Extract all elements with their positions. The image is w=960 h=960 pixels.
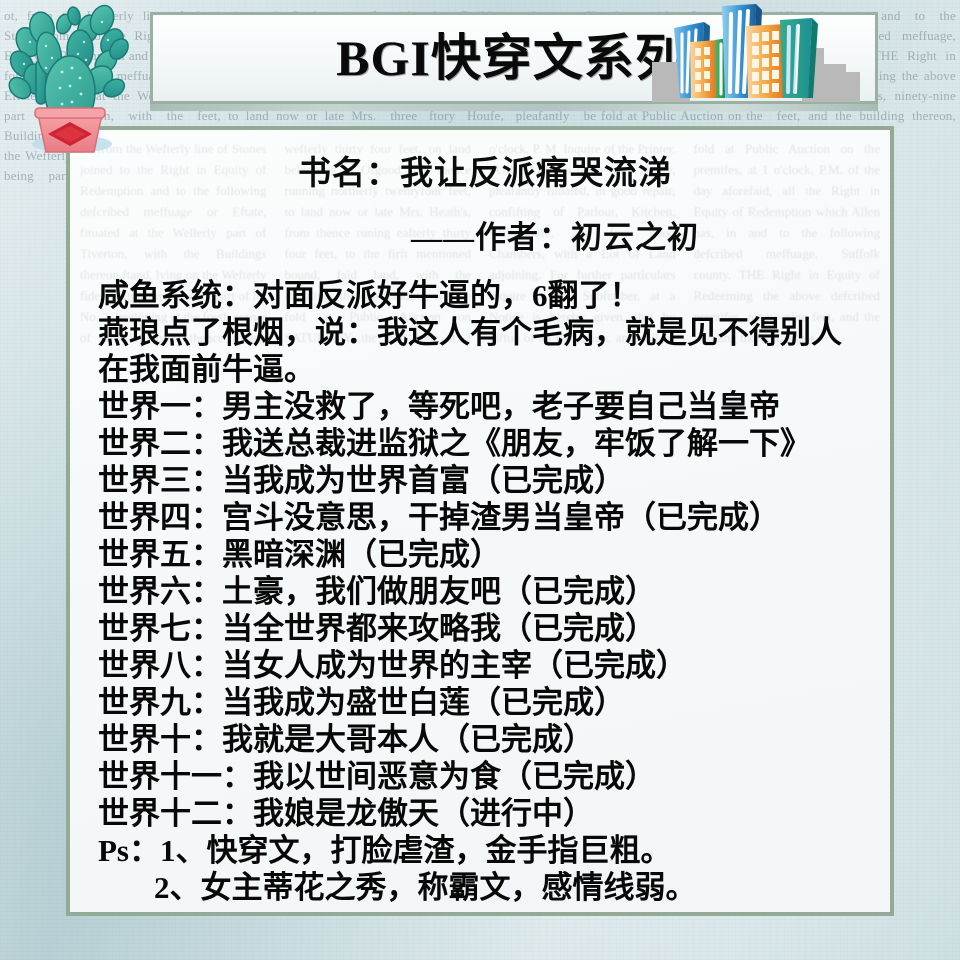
world-list-item: 世界九：当我成为盛世白莲（已完成） [98, 684, 876, 721]
world-list-item: 世界十二：我娘是龙傲天（进行中） [98, 795, 876, 832]
world-list-item: 世界十一：我以世间恶意为食（已完成） [98, 758, 876, 795]
book-title: 书名：我让反派痛哭流涕 [298, 146, 672, 194]
intro-line: 咸鱼系统：对面反派好牛逼的，6翻了！ [98, 277, 876, 314]
world-list-item: 世界一：男主没救了，等死吧，老子要自己当皇帝 [98, 388, 876, 425]
world-list-item: 世界八：当女人成为世界的主宰（已完成） [98, 647, 876, 684]
page-title: BGI快穿文系列 [336, 33, 686, 83]
world-list-item: 世界二：我送总裁进监狱之《朋友，牢饭了解一下》 [98, 425, 876, 462]
cityscape-buildings-icon [652, 0, 900, 118]
intro-line: 在我面前牛逼。 [98, 351, 876, 388]
ps-line: Ps：1、快穿文，打脸虐渣，金手指巨粗。 [98, 832, 876, 869]
cactus-plant-icon [2, 2, 162, 172]
content-inner: 书名：我让反派痛哭流涕 ——作者：初云之初 咸鱼系统：对面反派好牛逼的，6翻了！… [70, 146, 890, 906]
ps-line: 2、女主蒂花之秀，称霸文，感情线弱。 [98, 869, 876, 906]
world-list-item: 世界十：我就是大哥本人（已完成） [98, 721, 876, 758]
author-name: ——作者：初云之初 [411, 212, 699, 257]
content-panel: ot, from the Wefterly line of Stones joi… [66, 126, 894, 916]
author-row: ——作者：初云之初 [70, 212, 890, 257]
world-list-item: 世界七：当全世界都来攻略我（已完成） [98, 610, 876, 647]
poster-page: ot, from the Wefterly line of Stones joi… [0, 0, 960, 960]
world-list-item: 世界五：黑暗深渊（已完成） [98, 536, 876, 573]
world-list-item: 世界四：宫斗没意思，干掉渣男当皇帝（已完成） [98, 499, 876, 536]
world-list-item: 世界六：土豪，我们做朋友吧（已完成） [98, 573, 876, 610]
intro-line: 燕琅点了根烟，说：我这人有个毛病，就是见不得别人 [98, 314, 876, 351]
synopsis-block: 咸鱼系统：对面反派好牛逼的，6翻了！ 燕琅点了根烟，说：我这人有个毛病，就是见不… [70, 277, 890, 906]
world-list-item: 世界三：当我成为世界首富（已完成） [98, 462, 876, 499]
book-title-row: 书名：我让反派痛哭流涕 [70, 146, 890, 194]
